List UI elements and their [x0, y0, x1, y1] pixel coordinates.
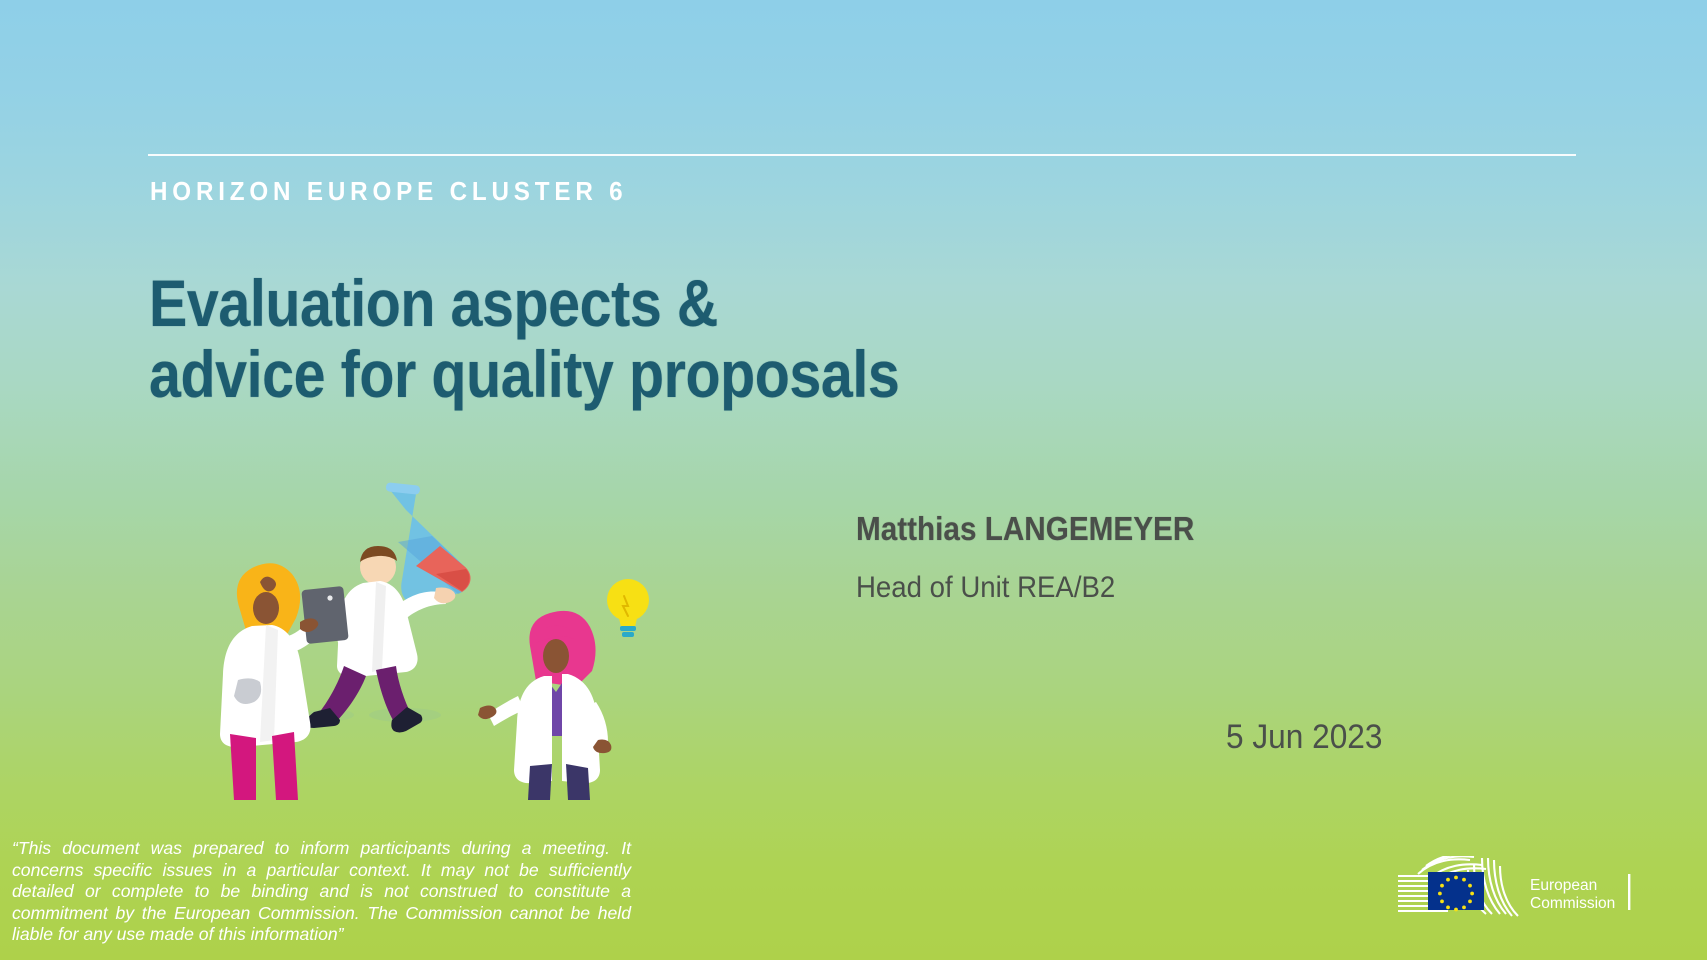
disclaimer-text: “This document was prepared to inform pa…: [12, 838, 631, 946]
figure-scientist-with-lightbulb: [478, 579, 649, 800]
lightbulb-icon: [607, 579, 649, 637]
title-line-2: advice for quality proposals: [149, 339, 899, 410]
header-divider: [148, 154, 1576, 156]
page-title: Evaluation aspects & advice for quality …: [149, 268, 899, 410]
title-line-1: Evaluation aspects &: [149, 266, 718, 340]
logo-text-line1: European: [1530, 877, 1597, 894]
tablet-icon: [301, 586, 348, 644]
figure-scientist-with-tablet: [220, 563, 349, 800]
speaker-name: Matthias LANGEMEYER: [856, 510, 1194, 548]
eu-flag-icon: [1428, 872, 1484, 911]
presentation-date: 5 Jun 2023: [1226, 718, 1382, 757]
speaker-role: Head of Unit REA/B2: [856, 571, 1115, 605]
european-commission-logo: European Commission: [1396, 856, 1636, 926]
presentation-slide: HORIZON EUROPE CLUSTER 6 Evaluation aspe…: [0, 0, 1707, 960]
flask-icon: [386, 482, 471, 605]
logo-text-line2: Commission: [1530, 895, 1615, 912]
scientists-illustration: [200, 470, 720, 800]
logo-divider-bar: [1628, 874, 1630, 910]
programme-eyebrow: HORIZON EUROPE CLUSTER 6: [150, 176, 627, 207]
